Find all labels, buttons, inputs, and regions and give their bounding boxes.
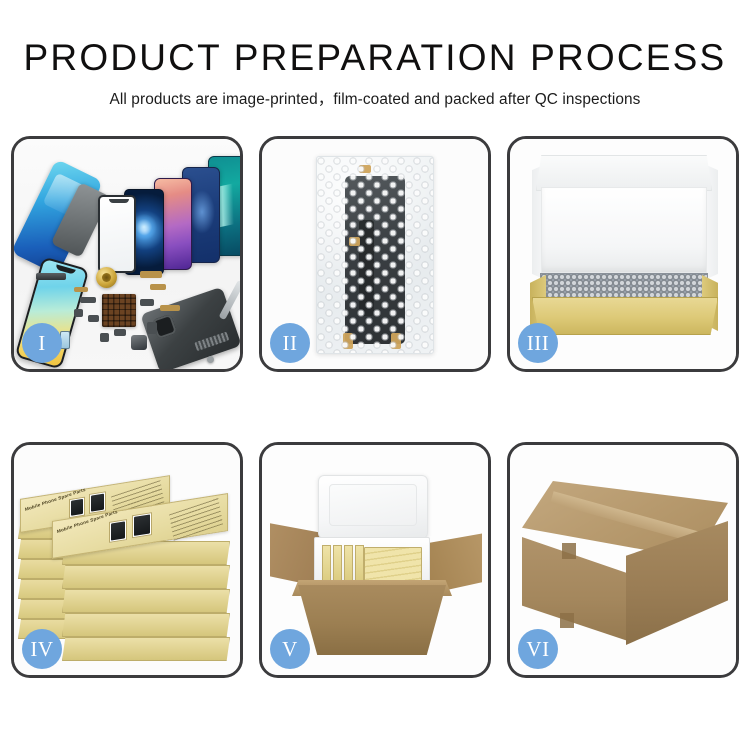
box-lid-back-flap — [536, 155, 712, 191]
grey-bubble-wrap-layer — [540, 273, 708, 299]
chip-part — [114, 329, 126, 336]
process-step-panel-2: II — [259, 136, 491, 372]
flex-cable-part — [150, 284, 166, 290]
flex-cable-part — [160, 305, 180, 311]
process-step-panel-3: III — [507, 136, 739, 372]
bubble-texture-highlight — [317, 157, 433, 353]
process-step-panel-4: Mobile Phone Spare Parts Mobile Phone Sp… — [11, 442, 243, 678]
screw-part — [207, 356, 214, 363]
carton-corner-tape-bottom — [560, 613, 574, 628]
box-window-right — [132, 512, 152, 538]
step-badge-3: III — [518, 323, 558, 363]
flex-cable-part — [140, 271, 162, 278]
flex-cable-part — [74, 287, 88, 292]
page-title: PRODUCT PREPARATION PROCESS — [0, 38, 750, 78]
logic-board — [102, 294, 136, 327]
stacked-box — [62, 613, 230, 637]
step-badge-6: VI — [518, 629, 558, 669]
step-badge-4: IV — [22, 629, 62, 669]
box-window-right — [89, 491, 106, 514]
chip-part — [88, 315, 99, 322]
tempered-glass-protector — [98, 195, 136, 273]
metal-bracket-strip — [36, 273, 66, 280]
step-badge-5: V — [270, 629, 310, 669]
chip-part — [147, 322, 157, 334]
stacked-box — [62, 565, 230, 589]
white-foam-sheet — [541, 187, 707, 273]
process-step-panel-5: V — [259, 442, 491, 678]
carton-corner-tape-top — [562, 543, 576, 559]
stacked-box — [62, 589, 230, 613]
kraft-box-front — [532, 297, 718, 335]
box-window-left — [109, 519, 127, 543]
stacked-box — [62, 637, 230, 661]
chip-part — [140, 299, 154, 306]
yellow-boxes-stacked-flat — [364, 547, 422, 585]
chip-part — [74, 309, 83, 317]
foam-cooler-lid — [318, 475, 428, 539]
gold-coil-part — [96, 267, 117, 288]
box-window-left — [69, 497, 85, 519]
bubble-wrap-bag — [316, 156, 434, 354]
chip-part — [100, 333, 109, 342]
page-subtitle: All products are image-printed，film-coat… — [0, 87, 750, 109]
process-step-panel-1: I — [11, 136, 243, 372]
chip-part — [80, 297, 96, 303]
step-badge-1: I — [22, 323, 62, 363]
process-step-grid: I II — [11, 136, 739, 678]
step-badge-2: II — [270, 323, 310, 363]
speaker-module — [131, 335, 147, 350]
carton-front-wall — [298, 585, 446, 655]
process-step-panel-6: VI — [507, 442, 739, 678]
page-header: PRODUCT PREPARATION PROCESS All products… — [0, 0, 750, 109]
